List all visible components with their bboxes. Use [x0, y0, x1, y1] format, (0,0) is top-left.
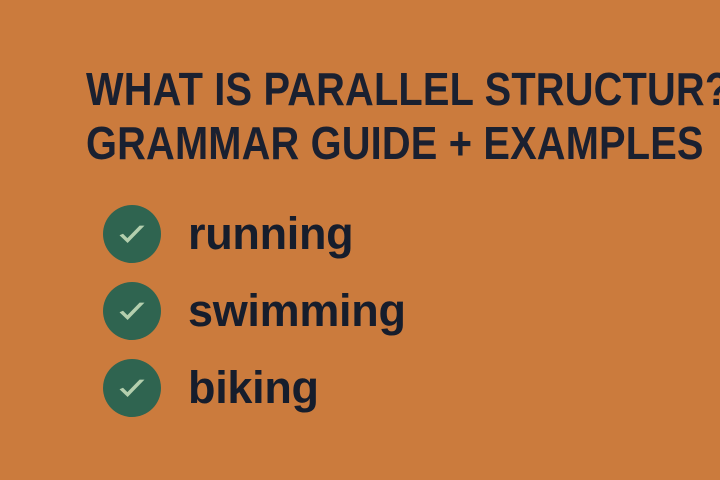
list-item: running	[103, 205, 623, 263]
page-title-line-2: GRAMMAR GUIDE + EXAMPLES	[86, 116, 622, 170]
page-title-line-1: WHAT IS PARALLEL STRUCTUR?	[86, 62, 622, 116]
page-title: WHAT IS PARALLEL STRUCTUR? GRAMMAR GUIDE…	[86, 62, 706, 170]
list-item-label: swimming	[188, 282, 406, 340]
checklist: running swimming biking	[103, 205, 623, 417]
check-circle-icon	[103, 205, 161, 263]
list-item-label: biking	[188, 359, 319, 417]
graphic-canvas: WHAT IS PARALLEL STRUCTUR? GRAMMAR GUIDE…	[0, 0, 720, 480]
check-circle-icon	[103, 359, 161, 417]
check-circle-icon	[103, 282, 161, 340]
list-item: biking	[103, 359, 623, 417]
list-item-label: running	[188, 205, 353, 263]
list-item: swimming	[103, 282, 623, 340]
